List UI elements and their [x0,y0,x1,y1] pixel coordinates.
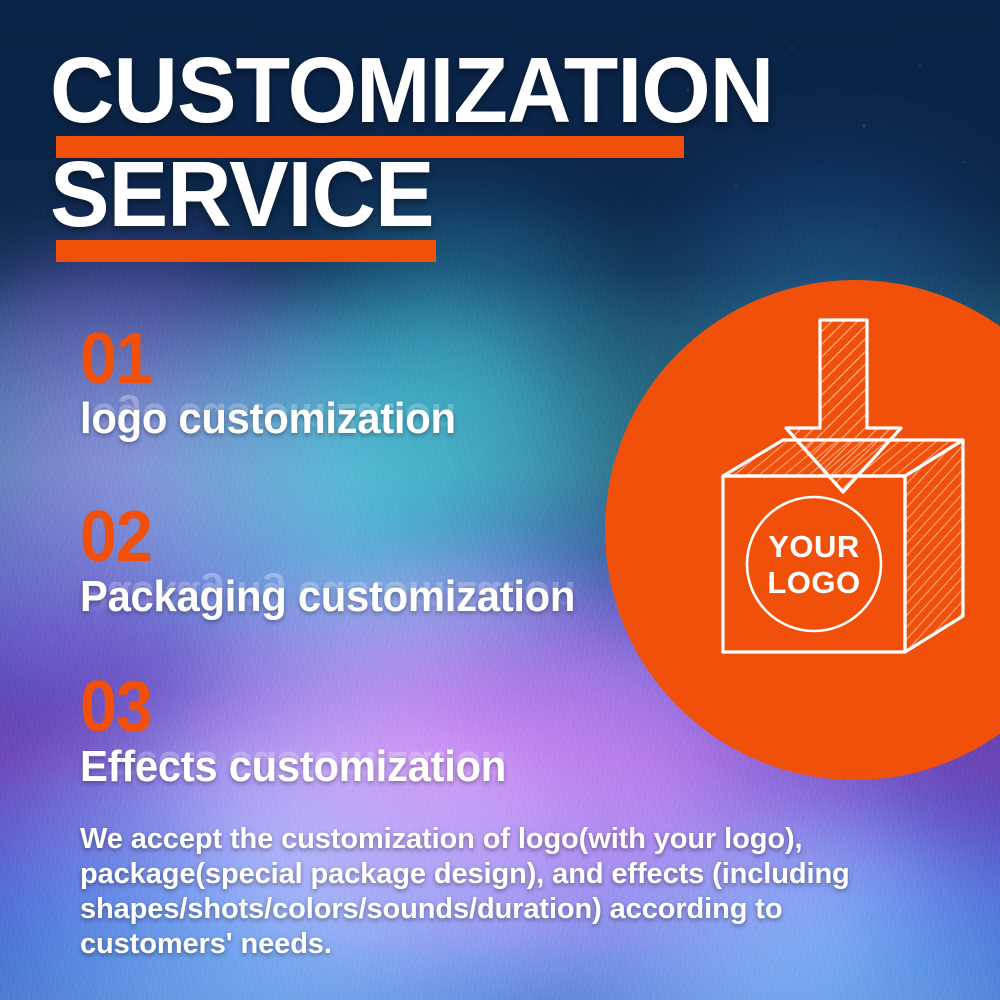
service-item-label: Effects customization [80,743,506,791]
service-item-02: 02 Packaging customization Packaging cus… [80,503,601,621]
service-item-label: Packaging customization [80,573,575,621]
service-item-number: 03 [80,673,493,741]
service-item-03: 03 Effects customization Effects customi… [80,673,528,791]
customization-graphic: YOUR LOGO [605,280,1000,780]
service-item-number: 01 [80,325,444,393]
logo-placeholder-line-2: LOGO [767,565,860,600]
headline-block: CUSTOMIZATION SERVICE [50,38,770,246]
headline-line-1: CUSTOMIZATION [50,38,741,142]
service-item-label-wrap: logo customization logo customization [80,395,475,443]
service-item-01: 01 logo customization logo customization [80,325,475,443]
description-paragraph: We accept the customization of logo(with… [80,822,860,962]
service-item-label: logo customization [80,395,456,443]
service-item-number: 02 [80,503,560,571]
headline-line-2: SERVICE [50,142,741,246]
logo-placeholder-line-1: YOUR [768,529,860,564]
service-item-label-wrap: Effects customization Effects customizat… [80,743,528,791]
service-item-label-wrap: Packaging customization Packaging custom… [80,573,601,621]
poster-canvas: CUSTOMIZATION SERVICE 01 logo customizat… [0,0,1000,1000]
headline-rows: CUSTOMIZATION SERVICE [50,38,770,246]
